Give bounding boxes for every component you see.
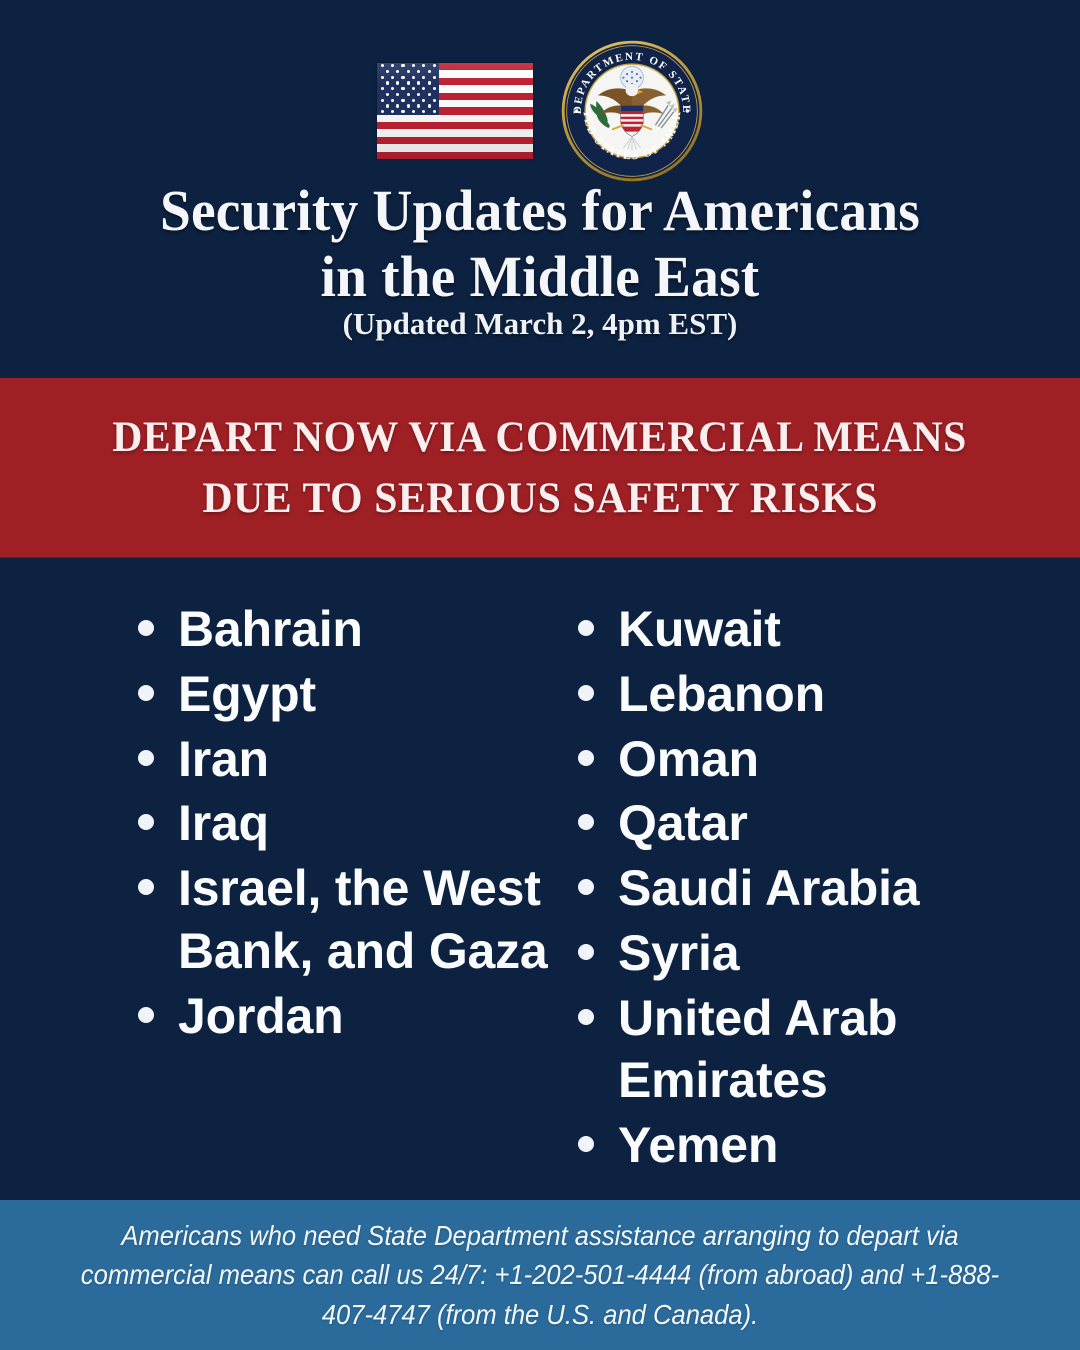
country-label: Iran <box>178 728 558 791</box>
list-item: United Arab Emirates <box>578 987 1048 1113</box>
page-subtitle-updated-timestamp: (Updated March 2, 4pm EST) <box>0 305 1080 342</box>
list-item: Egypt <box>138 663 558 726</box>
country-label: Kuwait <box>618 598 1048 661</box>
bullet-icon <box>138 620 154 636</box>
list-item: Iran <box>138 728 558 791</box>
bullet-icon <box>578 944 594 960</box>
country-label: Lebanon <box>618 663 1048 726</box>
us-flag-icon <box>377 63 533 159</box>
country-label: Egypt <box>178 663 558 726</box>
flag-canton <box>377 63 439 115</box>
poster-header: DEPARTMENT OF STATE UNITED STATES OF AME… <box>0 0 1080 378</box>
security-update-poster: DEPARTMENT OF STATE UNITED STATES OF AME… <box>0 0 1080 1350</box>
list-item: Iraq <box>138 792 558 855</box>
page-title-line-1: Security Updates for Americans <box>24 178 1055 244</box>
list-item: Qatar <box>578 792 1048 855</box>
bullet-icon <box>578 1009 594 1025</box>
alert-banner: DEPART NOW VIA COMMERCIAL MEANS DUE TO S… <box>0 378 1080 558</box>
bullet-icon <box>578 1136 594 1152</box>
country-list-section: Bahrain Egypt Iran Iraq Israel, the West… <box>0 558 1080 1200</box>
bullet-icon <box>578 814 594 830</box>
department-of-state-seal-icon: DEPARTMENT OF STATE UNITED STATES OF AME… <box>561 40 703 182</box>
poster-footer: Americans who need State Department assi… <box>0 1200 1080 1350</box>
page-title-line-2: in the Middle East <box>24 244 1055 310</box>
list-item: Jordan <box>138 985 558 1048</box>
bullet-icon <box>138 814 154 830</box>
alert-banner-line-2: DUE TO SERIOUS SAFETY RISKS <box>202 468 878 529</box>
bullet-icon <box>138 1007 154 1023</box>
footer-assistance-text: Americans who need State Department assi… <box>81 1216 1000 1333</box>
bullet-icon <box>578 620 594 636</box>
country-label: Oman <box>618 728 1048 791</box>
country-label: Yemen <box>618 1114 1048 1177</box>
country-list-right-column: Kuwait Lebanon Oman Qatar Saudi Arabia S… <box>578 598 1048 1179</box>
bullet-icon <box>578 750 594 766</box>
bullet-icon <box>138 750 154 766</box>
country-label: Bahrain <box>178 598 558 661</box>
country-label: Qatar <box>618 792 1048 855</box>
country-label: Iraq <box>178 792 558 855</box>
country-label: Syria <box>618 922 1048 985</box>
country-label: United Arab Emirates <box>618 987 1048 1113</box>
list-item: Kuwait <box>578 598 1048 661</box>
logo-row: DEPARTMENT OF STATE UNITED STATES OF AME… <box>0 40 1080 182</box>
page-title: Security Updates for Americans in the Mi… <box>24 178 1055 310</box>
list-item: Yemen <box>578 1114 1048 1177</box>
bullet-icon <box>578 879 594 895</box>
country-label: Jordan <box>178 985 558 1048</box>
list-item: Oman <box>578 728 1048 791</box>
bullet-icon <box>578 685 594 701</box>
country-label: Israel, the West Bank, and Gaza <box>178 857 558 983</box>
alert-banner-line-1: DEPART NOW VIA COMMERCIAL MEANS <box>113 407 968 468</box>
list-item: Lebanon <box>578 663 1048 726</box>
bullet-icon <box>138 879 154 895</box>
bullet-icon <box>138 685 154 701</box>
list-item: Israel, the West Bank, and Gaza <box>138 857 558 983</box>
list-item: Syria <box>578 922 1048 985</box>
country-label: Saudi Arabia <box>618 857 1048 920</box>
country-list-left-column: Bahrain Egypt Iran Iraq Israel, the West… <box>138 598 558 1049</box>
list-item: Bahrain <box>138 598 558 661</box>
list-item: Saudi Arabia <box>578 857 1048 920</box>
